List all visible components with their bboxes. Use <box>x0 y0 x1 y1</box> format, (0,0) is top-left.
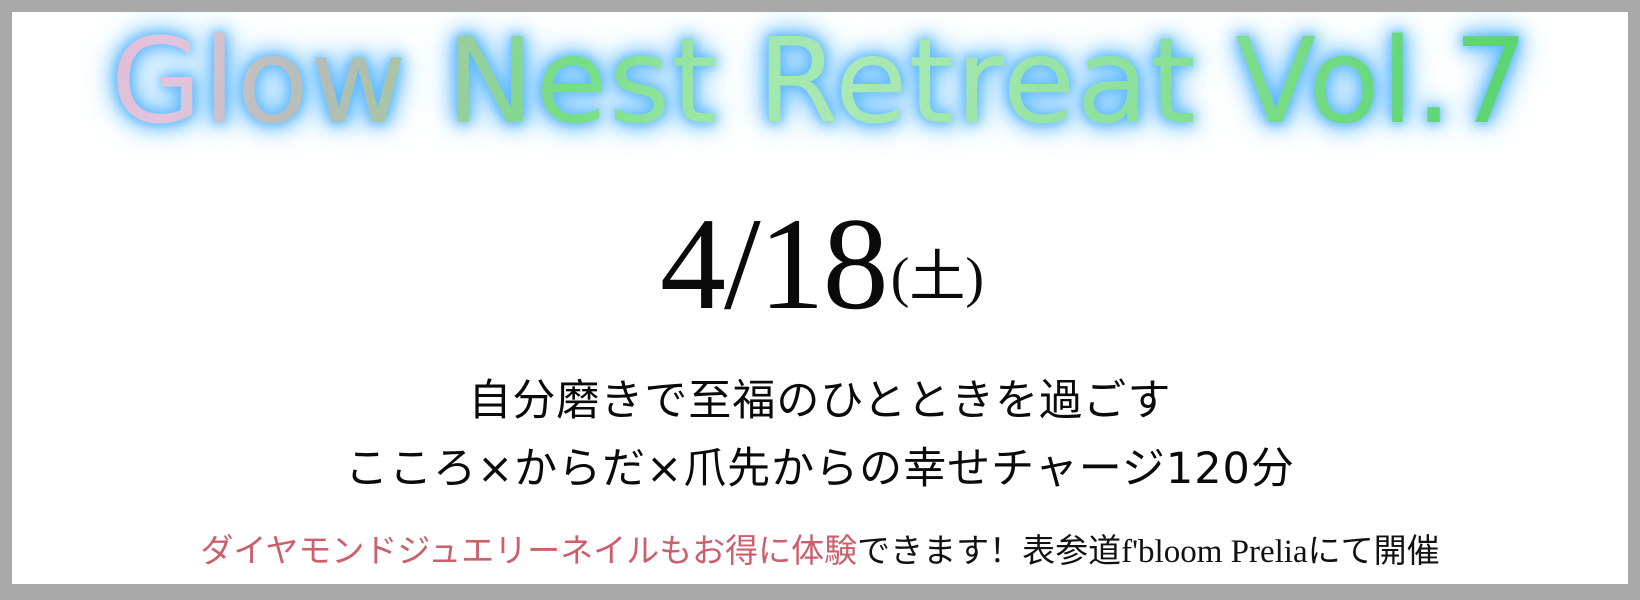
poster-frame: Glow Nest Retreat Vol.7 Glow Nest Retrea… <box>0 0 1640 600</box>
footer-note: ダイヤモンドジュエリーネイルもお得に体験できます！表参道f'bloom Prel… <box>12 524 1628 572</box>
poster-canvas: Glow Nest Retreat Vol.7 Glow Nest Retrea… <box>12 12 1628 584</box>
tagline-line-2: こころ×からだ×爪先からの幸せチャージ120分 <box>12 434 1628 496</box>
event-date-dayofweek: (土) <box>891 247 984 309</box>
event-date-block: 4/18(土) <box>12 198 1628 330</box>
event-title-text: Glow Nest Retreat Vol.7 <box>111 12 1530 150</box>
event-title-block: Glow Nest Retreat Vol.7 Glow Nest Retrea… <box>12 22 1628 192</box>
footer-note-highlight: ダイヤモンドジュエリーネイルもお得に体験 <box>200 534 857 570</box>
event-title: Glow Nest Retreat Vol.7 Glow Nest Retrea… <box>111 22 1530 140</box>
footer-note-rest: できます！表参道f'bloom Preliaにて開催 <box>857 534 1440 570</box>
event-date: 4/18 <box>660 190 887 337</box>
tagline-line-1: 自分磨きで至福のひとときを過ごす <box>12 366 1628 428</box>
